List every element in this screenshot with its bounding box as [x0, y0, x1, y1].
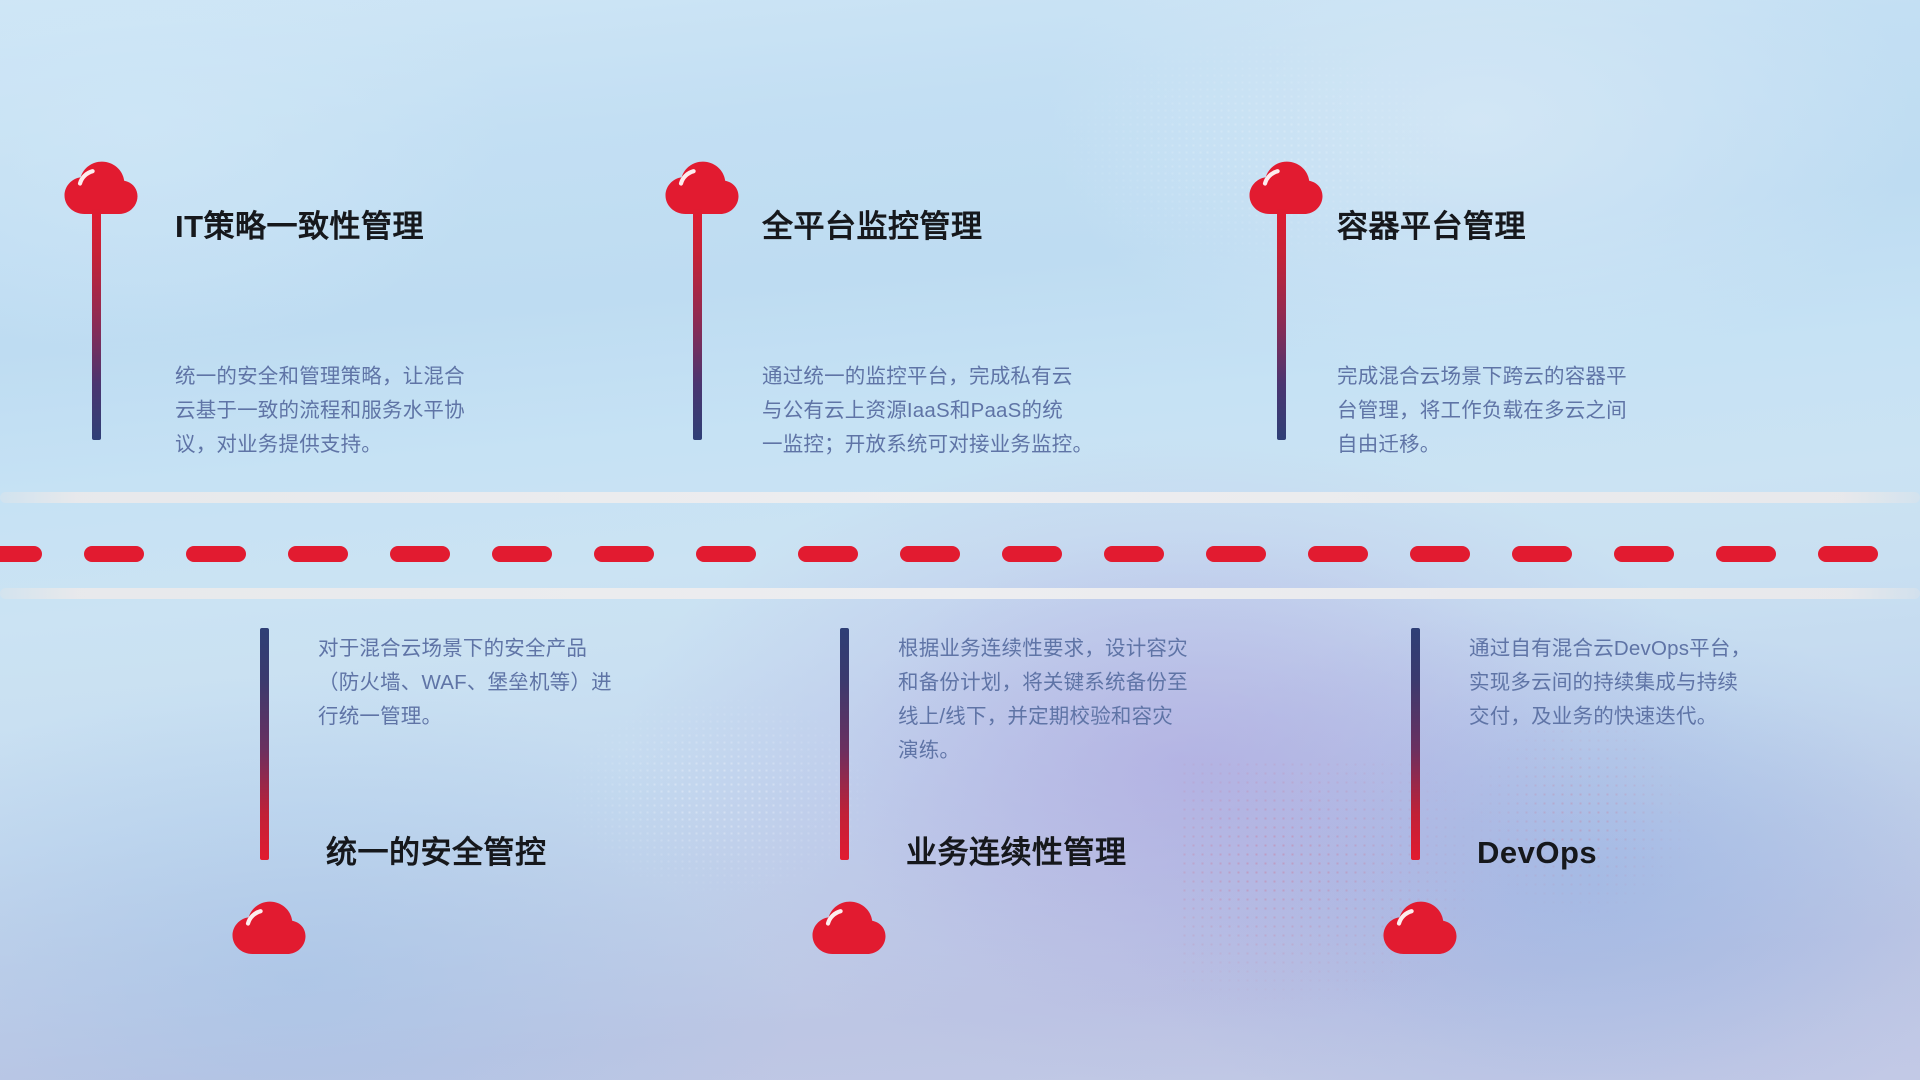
card-body: 对于混合云场景下的安全产品 （防火墙、WAF、堡垒机等）进 行统一管理。 — [318, 632, 748, 734]
card-title: DevOps — [1477, 834, 1889, 871]
road-dash — [288, 546, 348, 562]
road-dash — [1308, 546, 1368, 562]
road-dash — [1104, 546, 1164, 562]
road-dash — [1002, 546, 1062, 562]
road-dash — [1614, 546, 1674, 562]
card-it-policy-consistency: IT策略一致性管理 统一的安全和管理策略，让混合 云基于一致的流程和服务水平协 … — [175, 208, 605, 462]
card-title: IT策略一致性管理 — [175, 208, 605, 245]
cloud-icon — [64, 160, 138, 221]
card-container-platform: 容器平台管理 完成混合云场景下跨云的容器平 台管理，将工作负载在多云之间 自由迁… — [1337, 208, 1767, 462]
pin-stem — [693, 208, 702, 440]
road-dash — [0, 546, 42, 562]
road-dash — [798, 546, 858, 562]
cloud-icon — [1383, 900, 1457, 961]
card-title: 容器平台管理 — [1337, 208, 1767, 245]
road-dash — [492, 546, 552, 562]
road-dash — [1716, 546, 1776, 562]
cloud-icon — [665, 160, 739, 221]
hybrid-cloud-infographic: IT策略一致性管理 统一的安全和管理策略，让混合 云基于一致的流程和服务水平协 … — [0, 0, 1920, 1080]
pin-stem — [840, 628, 849, 860]
card-body: 通过统一的监控平台，完成私有云 与公有云上资源IaaS和PaaS的统 一监控；开… — [762, 360, 1212, 462]
road-dash — [900, 546, 960, 562]
pin-stem — [1277, 208, 1286, 440]
cloud-icon — [812, 900, 886, 961]
pin-stem — [1411, 628, 1420, 860]
card-body: 统一的安全和管理策略，让混合 云基于一致的流程和服务水平协 议，对业务提供支持。 — [175, 360, 605, 462]
card-body: 根据业务连续性要求，设计容灾 和备份计划，将关键系统备份至 线上/线下，并定期校… — [898, 632, 1338, 768]
road-dash — [696, 546, 756, 562]
road-dash — [1206, 546, 1266, 562]
road-edge-line-top — [0, 492, 1920, 503]
road-dash — [594, 546, 654, 562]
card-business-continuity: 根据业务连续性要求，设计容灾 和备份计划，将关键系统备份至 线上/线下，并定期校… — [898, 632, 1338, 871]
cloud-icon — [1249, 160, 1323, 221]
cloud-icon — [232, 900, 306, 961]
card-full-platform-monitoring: 全平台监控管理 通过统一的监控平台，完成私有云 与公有云上资源IaaS和PaaS… — [762, 208, 1212, 462]
road-dash — [1410, 546, 1470, 562]
road-edge-line-bottom — [0, 588, 1920, 599]
road-center-dashes — [0, 546, 1920, 562]
card-title: 全平台监控管理 — [762, 208, 1212, 245]
road-dash — [1818, 546, 1878, 562]
pin-stem — [260, 628, 269, 860]
road-dash — [390, 546, 450, 562]
card-unified-security-control: 对于混合云场景下的安全产品 （防火墙、WAF、堡垒机等）进 行统一管理。 统一的… — [318, 632, 748, 871]
card-devops: 通过自有混合云DevOps平台， 实现多云间的持续集成与持续 交付，及业务的快速… — [1469, 632, 1889, 871]
card-body: 通过自有混合云DevOps平台， 实现多云间的持续集成与持续 交付，及业务的快速… — [1469, 632, 1889, 734]
card-title: 业务连续性管理 — [906, 834, 1338, 871]
pin-stem — [92, 208, 101, 440]
card-title: 统一的安全管控 — [326, 834, 748, 871]
road-dash — [1512, 546, 1572, 562]
card-body: 完成混合云场景下跨云的容器平 台管理，将工作负载在多云之间 自由迁移。 — [1337, 360, 1767, 462]
road-dash — [84, 546, 144, 562]
road-dash — [186, 546, 246, 562]
